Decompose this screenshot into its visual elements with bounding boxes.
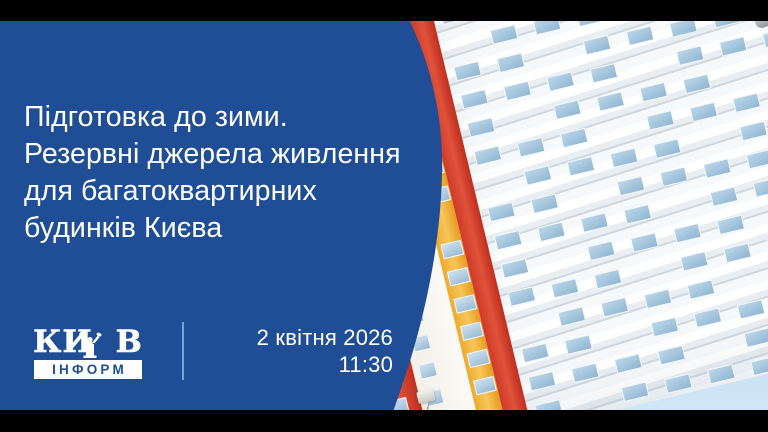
balcony-glazing	[703, 158, 732, 179]
balcony-glazing	[530, 193, 559, 214]
balcony-glazing	[753, 177, 768, 198]
balcony-glazing	[614, 353, 643, 374]
balcony-glazing	[503, 80, 532, 101]
event-time: 11:30	[210, 351, 393, 378]
balcony-glazing	[673, 223, 702, 244]
balcony-glazing	[680, 251, 709, 272]
balcony-glazing	[723, 242, 752, 263]
balcony-glazing	[639, 82, 668, 103]
letterbox-bar-top	[0, 0, 768, 21]
balcony-glazing	[682, 73, 711, 94]
balcony-glazing	[533, 21, 562, 36]
balcony-glazing	[660, 166, 689, 187]
balcony-glazing	[546, 71, 575, 92]
balcony-glazing	[626, 25, 655, 46]
balcony-glazing	[689, 101, 718, 122]
balcony-glazing	[643, 288, 672, 309]
letterbox-bar-bottom	[0, 410, 768, 432]
balcony-glazing	[523, 165, 552, 186]
balcony-glazing	[600, 297, 629, 318]
banner-footer: КИВ ІНФОРМ 2 квітня 2026 11:30	[24, 312, 393, 390]
balcony-glazing	[583, 34, 612, 55]
balcony-glazing	[507, 286, 536, 307]
banner-stage: Підготовка до зими. Резервні джерела жив…	[0, 0, 768, 432]
balcony-glazing	[496, 52, 525, 73]
balcony-glazing	[623, 203, 652, 224]
balcony-glazing	[440, 21, 469, 25]
balcony-glazing	[567, 156, 596, 177]
balcony-glazing	[616, 175, 645, 196]
balcony-glazing	[576, 21, 605, 27]
balcony-glazing	[676, 45, 705, 66]
balcony-glazing	[650, 316, 679, 337]
balcony-glazing	[716, 214, 745, 235]
balcony-glazing	[460, 89, 489, 110]
event-date: 2 квітня 2026	[210, 324, 393, 351]
page-title: Підготовка до зими. Резервні джерела жив…	[24, 99, 444, 247]
balcony-glazing	[709, 186, 738, 207]
balcony-glazing	[657, 344, 686, 365]
balcony-glazing	[707, 364, 736, 385]
balcony-glazing	[521, 343, 550, 364]
balcony-glazing	[737, 299, 766, 320]
balcony-glazing	[594, 269, 623, 290]
independence-monument-icon	[77, 322, 103, 358]
balcony-glazing	[580, 212, 609, 233]
balcony-glazing	[571, 362, 600, 383]
balcony-glazing	[501, 258, 530, 279]
balcony-glazing	[664, 373, 693, 394]
footer-divider	[182, 322, 184, 380]
balcony-glazing	[630, 232, 659, 253]
balcony-glazing	[557, 306, 586, 327]
balcony-glazing	[528, 371, 557, 392]
balcony-glazing	[610, 147, 639, 168]
logo-subtitle: ІНФОРМ	[34, 360, 142, 379]
balcony-glazing	[550, 277, 579, 298]
balcony-glazing	[719, 36, 748, 57]
balcony-glazing	[553, 99, 582, 120]
balcony-glazing	[739, 121, 768, 142]
balcony-glazing	[473, 145, 502, 166]
balcony-glazing	[712, 21, 741, 28]
balcony-glazing	[693, 307, 722, 328]
balcony-glazing	[487, 202, 516, 223]
balcony-glazing	[653, 138, 682, 159]
balcony-glazing	[687, 279, 716, 300]
balcony-glazing	[743, 327, 768, 348]
balcony-glazing	[646, 110, 675, 131]
event-datetime: 2 квітня 2026 11:30	[210, 324, 393, 378]
balcony-glazing	[490, 24, 519, 45]
balcony-glazing	[750, 355, 768, 376]
balcony-glazing	[467, 117, 496, 138]
balcony-glazing	[453, 61, 482, 82]
balcony-glazing	[534, 399, 563, 410]
kyiv-inform-logo: КИВ ІНФОРМ	[24, 323, 152, 379]
balcony-glazing	[762, 27, 768, 48]
balcony-glazing	[732, 92, 761, 113]
balcony-glazing	[517, 136, 546, 157]
balcony-glazing	[537, 221, 566, 242]
logo-wordmark: КИВ	[24, 323, 152, 357]
balcony-glazing	[494, 230, 523, 251]
balcony-glazing	[596, 91, 625, 112]
balcony-glazing	[621, 381, 650, 402]
balcony-glazing	[560, 128, 589, 149]
balcony-glazing	[746, 149, 768, 170]
balcony-glazing	[587, 240, 616, 261]
balcony-glazing	[589, 62, 618, 83]
balcony-glazing	[669, 21, 698, 37]
balcony-glazing	[564, 334, 593, 355]
